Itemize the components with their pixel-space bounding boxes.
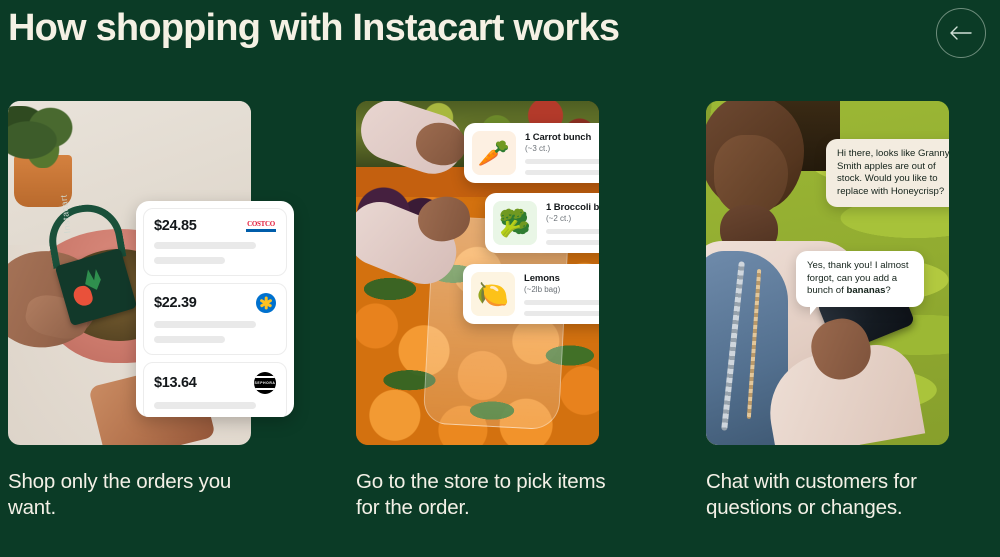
chat-message-text: Hi there, looks like Granny Smith apples… bbox=[837, 148, 949, 197]
item-name: 1 Broccoli bunch bbox=[546, 202, 599, 213]
chat-bubble-customer: Yes, thank you! I almost forgot, can you… bbox=[796, 251, 924, 307]
sephora-logo: SEPHORA bbox=[254, 372, 276, 394]
costco-logo: COSTCO bbox=[246, 219, 276, 233]
placeholder-line bbox=[546, 240, 599, 245]
steps-row: Instacart $24.85 COSTCO bbox=[0, 101, 1000, 557]
placeholder-line bbox=[154, 402, 256, 409]
placeholder-line bbox=[546, 229, 599, 234]
page-title: How shopping with Instacart works bbox=[8, 2, 619, 54]
step-3-photo: Hi there, looks like Granny Smith apples… bbox=[706, 101, 949, 445]
order-price: $13.64 bbox=[154, 375, 197, 391]
step-1-caption: Shop only the orders you want. bbox=[8, 469, 278, 521]
walmart-logo bbox=[256, 293, 276, 313]
step-2-photo: 🥕 1 Carrot bunch (~3 ct.) 🥦 1 Broccoli b… bbox=[356, 101, 599, 445]
arrow-left-icon bbox=[950, 26, 972, 40]
placeholder-line bbox=[154, 321, 256, 328]
item-quantity: (~2 ct.) bbox=[546, 214, 599, 223]
back-button[interactable] bbox=[936, 8, 986, 58]
item-quantity: (~3 ct.) bbox=[525, 144, 599, 153]
item-name: Lemons bbox=[524, 273, 599, 284]
placeholder-line bbox=[154, 242, 256, 249]
placeholder-line bbox=[525, 159, 599, 164]
carrot-icon: 🥕 bbox=[472, 131, 516, 175]
order-card[interactable]: $24.85 COSTCO bbox=[143, 208, 287, 276]
broccoli-icon: 🥦 bbox=[493, 201, 537, 245]
chat-message-text-after: ? bbox=[885, 285, 890, 296]
step-3-caption: Chat with customers for questions or cha… bbox=[706, 469, 976, 521]
order-card[interactable]: $22.39 bbox=[143, 283, 287, 355]
placeholder-line bbox=[525, 170, 599, 175]
order-card[interactable]: $13.64 SEPHORA bbox=[143, 362, 287, 417]
order-price: $24.85 bbox=[154, 218, 197, 234]
item-card[interactable]: 🍋 Lemons (~2lb bag) bbox=[463, 264, 599, 324]
item-quantity: (~2lb bag) bbox=[524, 285, 599, 294]
chat-bubble-shopper: Hi there, looks like Granny Smith apples… bbox=[826, 139, 949, 207]
order-price: $22.39 bbox=[154, 295, 197, 311]
item-name: 1 Carrot bunch bbox=[525, 132, 599, 143]
placeholder-line bbox=[524, 311, 599, 316]
chat-message-text-bold: bananas bbox=[846, 285, 885, 296]
lemon-icon: 🍋 bbox=[471, 272, 515, 316]
item-card[interactable]: 🥕 1 Carrot bunch (~3 ct.) bbox=[464, 123, 599, 183]
item-card[interactable]: 🥦 1 Broccoli bunch (~2 ct.) bbox=[485, 193, 599, 253]
placeholder-line bbox=[154, 257, 225, 264]
order-price-card-stack: $24.85 COSTCO $22.39 bbox=[136, 201, 294, 417]
placeholder-line bbox=[524, 300, 599, 305]
step-2-caption: Go to the store to pick items for the or… bbox=[356, 469, 626, 521]
placeholder-line bbox=[154, 336, 225, 343]
how-it-works-page: How shopping with Instacart works Instac… bbox=[0, 0, 1000, 557]
